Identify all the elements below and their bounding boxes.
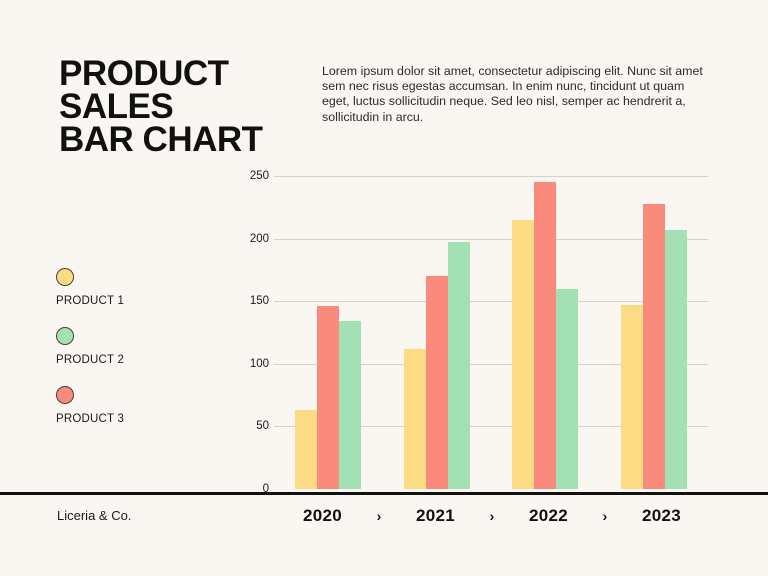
legend-item[interactable]: PRODUCT 2	[56, 327, 226, 366]
y-axis-tick-label: 200	[250, 233, 269, 245]
y-axis-tick-label: 250	[250, 170, 269, 182]
legend-item[interactable]: PRODUCT 1	[56, 268, 226, 307]
x-axis-tick-label: 2022	[500, 506, 597, 526]
chevron-right-icon: ›	[371, 508, 387, 524]
legend-swatch-circle-icon	[56, 327, 74, 345]
bar[interactable]	[295, 410, 317, 489]
legend-item-label: PRODUCT 3	[56, 413, 226, 425]
plot-area	[274, 176, 708, 489]
x-axis: 2020›2021›2022›2023	[274, 503, 710, 529]
page-title: PRODUCT SALES BAR CHART	[59, 57, 263, 156]
legend-item-label: PRODUCT 1	[56, 295, 226, 307]
bar-group	[491, 176, 600, 489]
chevron-right-icon: ›	[597, 508, 613, 524]
brand-name: Liceria & Co.	[57, 508, 131, 523]
legend-swatch-circle-icon	[56, 268, 74, 286]
bar[interactable]	[621, 305, 643, 489]
y-axis: 050100150200250	[240, 176, 274, 489]
legend-swatch-circle-icon	[56, 386, 74, 404]
intro-paragraph: Lorem ipsum dolor sit amet, consectetur …	[322, 64, 714, 125]
bar[interactable]	[426, 276, 448, 489]
x-axis-tick-label: 2021	[387, 506, 484, 526]
footer-divider	[0, 492, 768, 495]
header: PRODUCT SALES BAR CHART Lorem ipsum dolo…	[0, 0, 768, 170]
bar[interactable]	[534, 182, 556, 489]
bar-groups	[274, 176, 708, 489]
y-axis-tick-label: 150	[250, 295, 269, 307]
bar[interactable]	[665, 230, 687, 489]
chevron-right-icon: ›	[484, 508, 500, 524]
legend-item[interactable]: PRODUCT 3	[56, 386, 226, 425]
bar[interactable]	[512, 220, 534, 489]
bar-chart: 050100150200250	[240, 176, 710, 496]
bar-group	[274, 176, 383, 489]
x-axis-tick-label: 2023	[613, 506, 710, 526]
x-axis-tick-label: 2020	[274, 506, 371, 526]
y-axis-tick-label: 50	[256, 420, 269, 432]
bar[interactable]	[404, 349, 426, 489]
bar[interactable]	[317, 306, 339, 489]
y-axis-tick-label: 100	[250, 358, 269, 370]
chart-legend: PRODUCT 1PRODUCT 2PRODUCT 3	[56, 268, 226, 445]
bar-group	[600, 176, 709, 489]
bar[interactable]	[339, 321, 361, 489]
bar-group	[383, 176, 492, 489]
bar[interactable]	[643, 204, 665, 489]
bar[interactable]	[556, 289, 578, 489]
legend-item-label: PRODUCT 2	[56, 354, 226, 366]
bar[interactable]	[448, 242, 470, 489]
